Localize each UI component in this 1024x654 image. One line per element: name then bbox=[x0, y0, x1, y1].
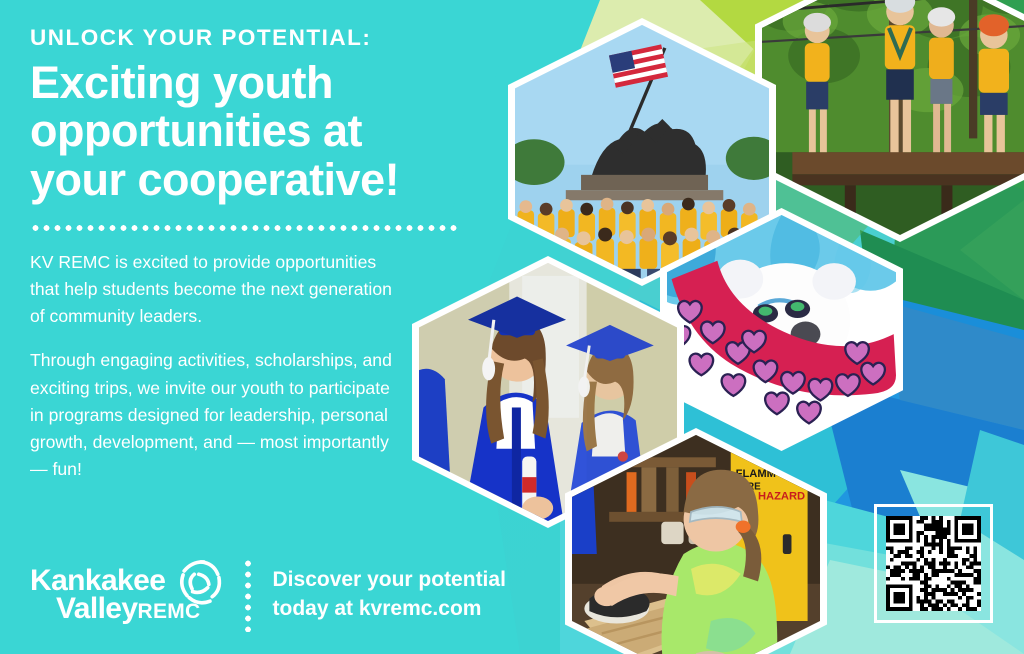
svg-text:HAZARD: HAZARD bbox=[758, 490, 805, 502]
tagline: Discover your potential today at kvremc.… bbox=[273, 566, 506, 624]
swirl-icon bbox=[173, 553, 229, 609]
page-title: Exciting youth opportunities at your coo… bbox=[30, 59, 440, 205]
vertical-dotted-divider bbox=[245, 558, 251, 632]
qr-code-frame[interactable] bbox=[874, 504, 993, 623]
text-column: UNLOCK YOUR POTENTIAL: Exciting youth op… bbox=[30, 26, 470, 484]
dotted-divider bbox=[30, 225, 460, 231]
artwork-illustration bbox=[667, 215, 896, 444]
body-copy: KV REMC is excited to provide opportunit… bbox=[30, 249, 408, 484]
footer-lockup: Kankakee ValleyREMC Discover your potent… bbox=[30, 558, 506, 632]
poster-root: FLAMM FIRE HAZARD bbox=[0, 0, 1024, 654]
body-paragraph-1: KV REMC is excited to provide opportunit… bbox=[30, 249, 408, 331]
eyebrow-text: UNLOCK YOUR POTENTIAL: bbox=[30, 26, 470, 51]
brand-logo[interactable]: Kankakee ValleyREMC bbox=[30, 567, 211, 622]
body-paragraph-2: Through engaging activities, scholarship… bbox=[30, 347, 408, 483]
logo-valley-text: Valley bbox=[56, 592, 137, 625]
qr-code[interactable] bbox=[886, 516, 981, 611]
